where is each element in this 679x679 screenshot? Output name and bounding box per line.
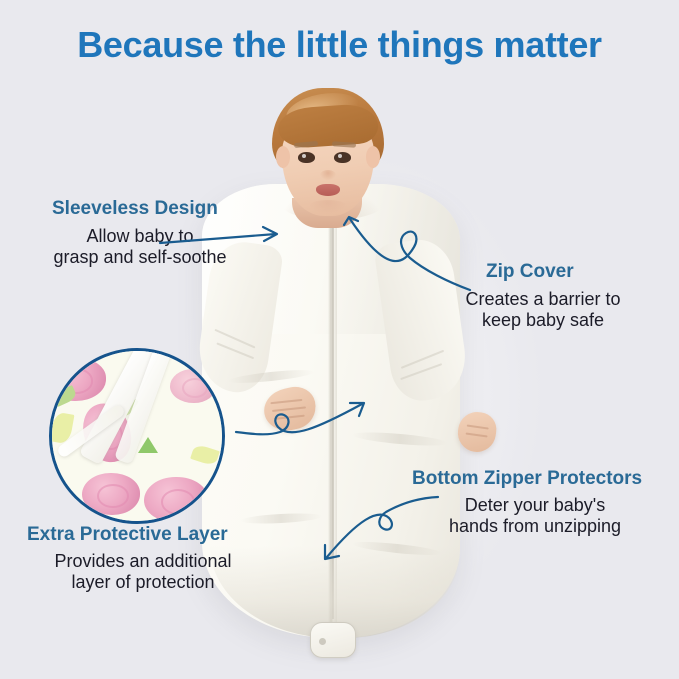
fabric-swatch xyxy=(52,351,222,521)
rose-motif xyxy=(170,369,216,403)
baby-eye-right xyxy=(334,152,351,163)
baby-head xyxy=(272,88,384,220)
leaf-motif-triangle xyxy=(138,437,158,453)
fabric-fold xyxy=(240,512,322,525)
callout-body-sleeveless-design: Allow baby to grasp and self-soothe xyxy=(24,226,256,268)
product-infographic: Because the little things matter xyxy=(0,0,679,679)
page-title: Because the little things matter xyxy=(0,24,679,66)
finger-crease xyxy=(467,425,489,430)
rose-motif xyxy=(144,477,208,523)
baby-left-hand xyxy=(260,383,320,435)
rose-motif xyxy=(82,473,140,515)
callout-body-bottom-zipper-protectors: Deter your baby's hands from unzipping xyxy=(410,495,660,537)
baby-ear-right xyxy=(366,146,380,168)
fabric-closeup-circle xyxy=(49,348,225,524)
baby-chin xyxy=(308,200,348,214)
finger-crease xyxy=(270,399,302,404)
baby-nose xyxy=(320,170,336,180)
callout-title-sleeveless-design: Sleeveless Design xyxy=(52,198,218,220)
callout-body-extra-protective-layer: Provides an additional layer of protecti… xyxy=(22,551,264,593)
finger-crease xyxy=(275,415,305,420)
baby-mouth xyxy=(316,184,340,196)
bottom-zipper-protector xyxy=(310,622,356,658)
callout-body-zip-cover: Creates a barrier to keep baby safe xyxy=(430,289,656,331)
baby-eye-left xyxy=(298,152,315,163)
baby-ear-left xyxy=(276,146,290,168)
finger-crease xyxy=(466,432,488,437)
finger-crease xyxy=(272,406,306,412)
callout-title-extra-protective-layer: Extra Protective Layer xyxy=(27,524,228,546)
fabric-fold xyxy=(352,430,449,448)
leaf-motif xyxy=(190,443,220,466)
callout-title-zip-cover: Zip Cover xyxy=(486,261,574,283)
callout-title-bottom-zipper-protectors: Bottom Zipper Protectors xyxy=(412,468,642,490)
